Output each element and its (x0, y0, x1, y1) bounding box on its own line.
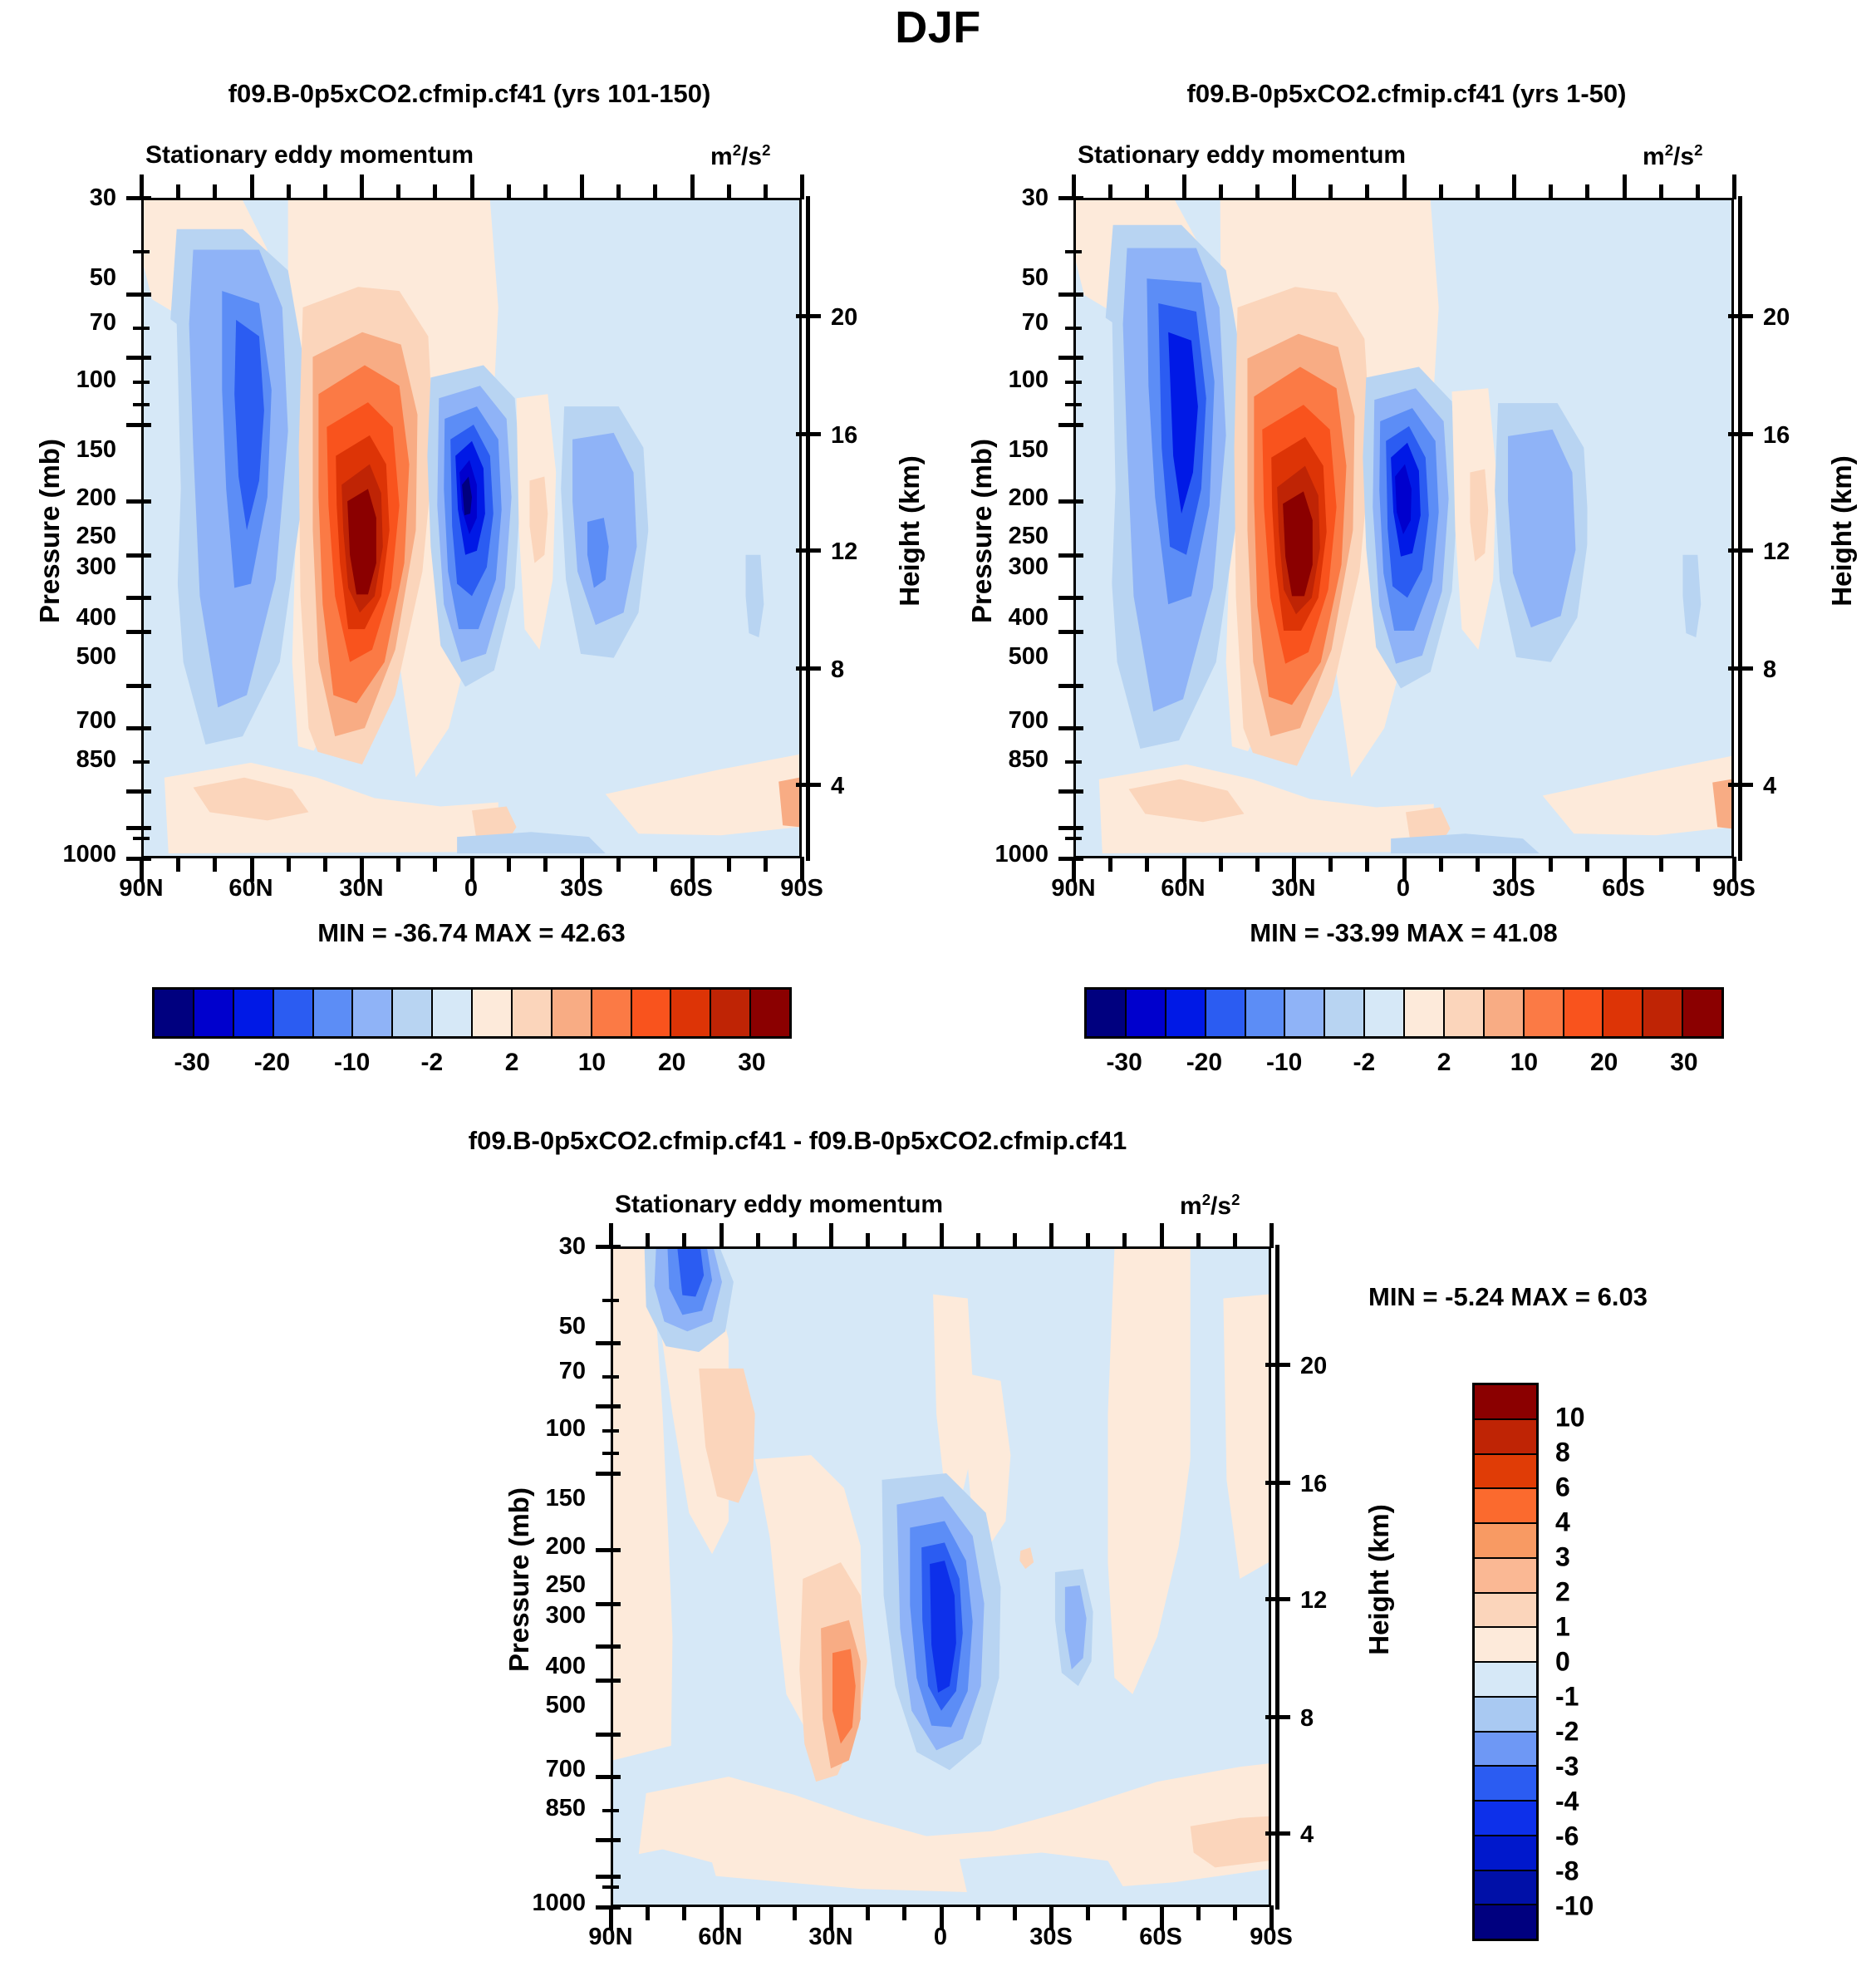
panel-top-left-ylabel: Pressure (mb) (34, 390, 66, 672)
x-minor-tickmark (213, 857, 217, 872)
panel-top-left-rtick-0: 20 (831, 304, 857, 332)
colorbar-tick-label: -1 (1555, 1682, 1579, 1713)
x-minor-tickmark-top (1122, 1233, 1127, 1248)
panel-bottom-rlabel: Height (km) (1363, 1438, 1395, 1721)
panel-top-right-ytick-11: 850 (957, 746, 1048, 774)
colorbar-tick-label: 30 (1670, 1049, 1697, 1077)
y-tickmark (596, 1905, 621, 1910)
x-minor-tickmark-top (1233, 1233, 1237, 1248)
colorbar-tick-label: 2 (1437, 1049, 1451, 1077)
x-tickmark-top (1623, 175, 1627, 199)
y-tickmark (596, 1644, 621, 1649)
colorbar-cell (1087, 990, 1127, 1036)
panel-top-right-right-axis (1738, 196, 1742, 861)
colorbar-cell (1445, 990, 1485, 1036)
colorbar-tick-label: -30 (1106, 1049, 1142, 1077)
y-tickmark (596, 1602, 621, 1606)
y-tickmark (126, 630, 151, 634)
colorbar-cell (1475, 1698, 1536, 1733)
x-minor-tickmark (1439, 857, 1443, 872)
x-minor-tickmark-top (616, 184, 621, 199)
panel-top-left-units: m2/s2 (710, 141, 770, 171)
x-tickmark (1623, 857, 1627, 882)
x-minor-tickmark (1219, 857, 1223, 872)
colorbar-cell (632, 990, 672, 1036)
x-tickmark-top (719, 1223, 724, 1248)
panel-top-right-rtick-1: 16 (1763, 422, 1790, 450)
panel-top-right-units: m2/s2 (1643, 141, 1702, 171)
x-minor-tickmark (764, 857, 768, 872)
colorbar-cell (393, 990, 433, 1036)
x-minor-tickmark-top (1086, 1233, 1090, 1248)
x-minor-tickmark (1122, 1905, 1127, 1920)
colorbar-tick-label: 8 (1555, 1438, 1570, 1468)
x-tickmark-top (470, 175, 474, 199)
x-minor-tickmark (1255, 857, 1260, 872)
x-tickmark-top (1402, 175, 1407, 199)
y-tickmark (1058, 499, 1083, 504)
colorbar-cell (1603, 990, 1643, 1036)
x-minor-tickmark-top (764, 184, 768, 199)
panel-bottom-rtick-1: 16 (1300, 1471, 1327, 1498)
y-tickmark (596, 1775, 621, 1779)
colorbar-cell (1285, 990, 1325, 1036)
panel-top-right-rtickmark-3 (1728, 666, 1753, 671)
x-minor-tickmark (176, 857, 180, 872)
x-minor-tickmark-top (176, 184, 180, 199)
y-minor-tickmark (1065, 760, 1082, 764)
panel-top-right-rtickmark-0 (1728, 314, 1753, 318)
x-tickmark (719, 1905, 724, 1930)
y-tickmark (126, 423, 151, 427)
x-tickmark (360, 857, 364, 882)
colorbar-cell (1475, 1559, 1536, 1594)
colorbar-tick-label: -6 (1555, 1821, 1579, 1852)
x-tickmark-top (690, 175, 695, 199)
panel-top-right-colorbar-labels: -30-20-10-22102030 (1084, 1049, 1724, 1082)
colorbar-cell (194, 990, 234, 1036)
panel-bottom-rtick-0: 20 (1300, 1353, 1327, 1380)
colorbar-cell (234, 990, 274, 1036)
colorbar-tick-label: 6 (1555, 1472, 1570, 1503)
y-minor-tickmark (133, 327, 150, 330)
x-tickmark-top (360, 175, 364, 199)
panel-top-right-ytick-10: 700 (957, 707, 1048, 735)
colorbar-tick-label: 10 (578, 1049, 606, 1077)
x-minor-tickmark-top (1145, 184, 1149, 199)
colorbar-cell (1475, 1733, 1536, 1767)
panel-top-right-title: f09.B-0p5xCO2.cfmip.cf41 (yrs 1-50) (937, 79, 1876, 109)
colorbar-tick-label: -2 (421, 1049, 444, 1077)
x-tickmark (800, 857, 804, 882)
colorbar-cell (1475, 1767, 1536, 1802)
panel-top-right-minmax: MIN = -33.99 MAX = 41.08 (1073, 918, 1734, 948)
panel-top-left-rtick-2: 12 (831, 538, 857, 566)
panel-top-right-ytick-2: 70 (957, 309, 1048, 337)
colorbar-tick-label: 0 (1555, 1647, 1570, 1678)
panel-top-left-colorbar[interactable] (152, 987, 792, 1039)
colorbar-tick-label: 1 (1555, 1612, 1570, 1643)
y-tickmark (1058, 684, 1083, 688)
panel-top-right-plot (1073, 198, 1734, 858)
colorbar-cell (1475, 1802, 1536, 1836)
y-tickmark (596, 1733, 621, 1737)
x-minor-tickmark (1659, 857, 1663, 872)
panel-top-left-colorbar-labels: -30-20-10-22102030 (152, 1049, 792, 1082)
y-tickmark (126, 499, 151, 504)
y-tickmark (126, 726, 151, 730)
y-tickmark (1058, 423, 1083, 427)
colorbar-cell (433, 990, 473, 1036)
y-minor-tickmark (1065, 327, 1082, 330)
y-minor-tickmark (133, 760, 150, 764)
colorbar-tick-label: 10 (1555, 1403, 1585, 1433)
y-tickmark (596, 1875, 621, 1879)
x-minor-tickmark-top (507, 184, 511, 199)
x-tickmark-top (1269, 1223, 1274, 1248)
panel-bottom-ytick-0: 30 (494, 1233, 586, 1261)
x-minor-tickmark-top (1476, 184, 1480, 199)
x-minor-tickmark-top (682, 1233, 686, 1248)
y-tickmark (1058, 789, 1083, 794)
panel-top-right-rlabel: Height (km) (1826, 390, 1858, 672)
x-tickmark (140, 857, 144, 882)
x-minor-tickmark-top (727, 184, 731, 199)
y-minor-tickmark (602, 1429, 619, 1433)
y-tickmark (126, 789, 151, 794)
colorbar-tick-label: 20 (658, 1049, 685, 1077)
colorbar-cell (1475, 1524, 1536, 1559)
panel-bottom-rtickmark-1 (1265, 1481, 1290, 1485)
x-tickmark-top (1160, 1223, 1164, 1248)
x-minor-tickmark (1585, 857, 1589, 872)
panel-bottom-rtick-4: 4 (1300, 1821, 1314, 1849)
panel-top-right-rtickmark-1 (1728, 432, 1753, 436)
x-minor-tickmark (653, 857, 657, 872)
y-tickmark (1058, 826, 1083, 830)
x-tickmark (690, 857, 695, 882)
x-minor-tickmark (1365, 857, 1369, 872)
colorbar-cell (1475, 1628, 1536, 1663)
colorbar-tick-label: -20 (1186, 1049, 1222, 1077)
x-minor-tickmark (1086, 1905, 1090, 1920)
x-minor-tickmark (287, 857, 291, 872)
panel-bottom-rtickmark-0 (1265, 1363, 1290, 1367)
panel-bottom-rtick-3: 8 (1300, 1705, 1314, 1733)
x-tickmark (1182, 857, 1186, 882)
colorbar-cell (473, 990, 513, 1036)
x-minor-tickmark-top (1108, 184, 1112, 199)
y-tickmark (596, 1472, 621, 1476)
panel-top-left-ytick-0: 30 (25, 184, 116, 212)
colorbar-tick-label: -2 (1353, 1049, 1376, 1077)
panel-top-right-ytick-0: 30 (957, 184, 1048, 212)
y-tickmark (126, 356, 151, 360)
panel-top-right-ytick-1: 50 (957, 264, 1048, 292)
panel-bottom-ytick-11: 850 (494, 1795, 586, 1822)
x-minor-tickmark (1328, 857, 1333, 872)
colorbar-cell (751, 990, 789, 1036)
y-tickmark (1058, 857, 1083, 861)
y-tickmark (596, 1245, 621, 1249)
colorbar-cell (1475, 1455, 1536, 1490)
x-tickmark (1402, 857, 1407, 882)
x-tickmark (1072, 857, 1076, 882)
colorbar-tick-label: -10 (1266, 1049, 1302, 1077)
x-minor-tickmark-top (1696, 184, 1700, 199)
panel-top-right-rtickmark-2 (1728, 548, 1753, 553)
x-minor-tickmark (1196, 1905, 1201, 1920)
x-minor-tickmark (902, 1905, 906, 1920)
colorbar-cell (1485, 990, 1525, 1036)
x-minor-tickmark (1108, 857, 1112, 872)
panel-top-right-rtick-4: 4 (1763, 773, 1776, 800)
panel-top-left-rlabel: Height (km) (894, 390, 926, 672)
colorbar-cell (314, 990, 354, 1036)
y-tickmark (596, 1548, 621, 1552)
x-tickmark (1269, 1905, 1274, 1930)
x-minor-tickmark-top (213, 184, 217, 199)
y-minor-tickmark (602, 1452, 619, 1455)
panel-top-right-ylabel: Pressure (mb) (966, 390, 998, 672)
colorbar-cell (1475, 1489, 1536, 1524)
panel-bottom-ytick-2: 70 (494, 1358, 586, 1385)
colorbar-tick-label: 20 (1590, 1049, 1618, 1077)
colorbar-cell (155, 990, 194, 1036)
x-tickmark-top (800, 175, 804, 199)
panel-bottom-minmax: MIN = -5.24 MAX = 6.03 (1284, 1282, 1732, 1312)
x-minor-tickmark (866, 1905, 870, 1920)
x-minor-tickmark (976, 1905, 980, 1920)
x-minor-tickmark-top (1365, 184, 1369, 199)
colorbar-tick-label: 2 (1555, 1577, 1570, 1608)
y-minor-tickmark (1065, 250, 1082, 253)
panel-top-right-field-name: Stationary eddy momentum (1078, 141, 1406, 170)
panel-bottom-plot (611, 1246, 1271, 1907)
x-tickmark-top (829, 1223, 833, 1248)
x-tickmark (940, 1905, 944, 1930)
colorbar-cell (1475, 1420, 1536, 1455)
x-minor-tickmark (433, 857, 437, 872)
panel-top-left-rtick-3: 8 (831, 656, 844, 684)
colorbar-tick-label: -30 (174, 1049, 209, 1077)
colorbar-cell (1246, 990, 1286, 1036)
y-minor-tickmark (602, 1885, 619, 1889)
x-minor-tickmark (1145, 857, 1149, 872)
x-tickmark-top (140, 175, 144, 199)
colorbar-cell (1475, 1594, 1536, 1629)
x-tickmark-top (1072, 175, 1076, 199)
x-tickmark (829, 1905, 833, 1930)
colorbar-cell (1325, 990, 1365, 1036)
x-minor-tickmark-top (433, 184, 437, 199)
colorbar-tick-label: -10 (1555, 1891, 1594, 1922)
y-minor-tickmark (1065, 837, 1082, 840)
panel-top-left-rtickmark-4 (796, 783, 821, 787)
panel-bottom-ytick-10: 700 (494, 1756, 586, 1783)
x-minor-tickmark-top (1659, 184, 1663, 199)
panel-top-left-ytick-10: 700 (25, 707, 116, 735)
y-tickmark (1058, 630, 1083, 634)
x-minor-tickmark-top (1328, 184, 1333, 199)
colorbar-cell (274, 990, 314, 1036)
x-tickmark-top (609, 1223, 613, 1248)
x-minor-tickmark-top (1549, 184, 1553, 199)
colorbar-cell (1475, 1663, 1536, 1698)
panel-bottom-ytick-12: 1000 (486, 1890, 586, 1917)
y-tickmark (1058, 196, 1083, 200)
colorbar-tick-label: -2 (1555, 1717, 1579, 1748)
x-tickmark (609, 1905, 613, 1930)
x-minor-tickmark-top (1439, 184, 1443, 199)
colorbar-cell (353, 990, 393, 1036)
x-minor-tickmark (1549, 857, 1553, 872)
figure-title: DJF (0, 2, 1876, 53)
panel-bottom-rtick-2: 12 (1300, 1587, 1327, 1615)
panel-bottom-ylabel: Pressure (mb) (503, 1438, 535, 1721)
y-tickmark (126, 553, 151, 558)
y-minor-tickmark (1065, 381, 1082, 384)
x-minor-tickmark (682, 1905, 686, 1920)
panel-top-left-field-name: Stationary eddy momentum (145, 141, 474, 170)
y-tickmark (126, 292, 151, 297)
x-tickmark-top (1182, 175, 1186, 199)
x-minor-tickmark-top (646, 1233, 650, 1248)
colorbar-tick-label: -10 (334, 1049, 370, 1077)
x-minor-tickmark-top (1219, 184, 1223, 199)
x-minor-tickmark-top (1196, 1233, 1201, 1248)
panel-top-left-plot (141, 198, 802, 858)
x-minor-tickmark (727, 857, 731, 872)
colorbar-cell (711, 990, 751, 1036)
panel-top-left-ytick-1: 50 (25, 264, 116, 292)
colorbar-cell (1475, 1905, 1536, 1939)
y-tickmark (1058, 292, 1083, 297)
colorbar-cell (1127, 990, 1166, 1036)
x-minor-tickmark-top (793, 1233, 797, 1248)
colorbar-cell (1683, 990, 1721, 1036)
x-tickmark (1292, 857, 1296, 882)
panel-top-left-ytick-11: 850 (25, 746, 116, 774)
panel-bottom-rtickmark-4 (1265, 1831, 1290, 1836)
x-minor-tickmark-top (866, 1233, 870, 1248)
panel-top-right-colorbar[interactable] (1084, 987, 1724, 1039)
x-minor-tickmark (1233, 1905, 1237, 1920)
x-minor-tickmark (543, 857, 548, 872)
x-minor-tickmark (323, 857, 327, 872)
panel-bottom-field-name: Stationary eddy momentum (615, 1191, 943, 1219)
colorbar-tick-label: -8 (1555, 1856, 1579, 1887)
panel-top-left-rtickmark-1 (796, 432, 821, 436)
x-minor-tickmark (616, 857, 621, 872)
x-tickmark-top (1512, 175, 1516, 199)
x-minor-tickmark (396, 857, 400, 872)
y-tickmark (126, 826, 151, 830)
colorbar-cell (592, 990, 632, 1036)
panel-bottom-rtickmark-2 (1265, 1597, 1290, 1601)
x-tickmark-top (1732, 175, 1736, 199)
x-tickmark (1049, 1905, 1053, 1930)
panel-top-right-ytick-12: 1000 (949, 841, 1048, 868)
x-tickmark-top (1292, 175, 1296, 199)
y-tickmark (596, 1341, 621, 1345)
colorbar-cell (1405, 990, 1445, 1036)
colorbar-tick-label: 2 (505, 1049, 519, 1077)
x-tickmark-top (580, 175, 584, 199)
panel-bottom-colorbar[interactable] (1472, 1383, 1539, 1941)
x-tickmark (1732, 857, 1736, 882)
panel-top-left-rtickmark-0 (796, 314, 821, 318)
colorbar-tick-label: -3 (1555, 1752, 1579, 1782)
x-tickmark (1512, 857, 1516, 882)
colorbar-cell (1475, 1385, 1536, 1420)
colorbar-tick-label: 10 (1510, 1049, 1538, 1077)
panel-top-left-right-axis (806, 196, 810, 861)
x-tickmark (470, 857, 474, 882)
colorbar-cell (1206, 990, 1246, 1036)
x-minor-tickmark-top (543, 184, 548, 199)
panel-top-right-rtick-3: 8 (1763, 656, 1776, 684)
y-tickmark (1058, 726, 1083, 730)
colorbar-cell (552, 990, 592, 1036)
y-tickmark (1058, 596, 1083, 600)
x-minor-tickmark (1696, 857, 1700, 872)
x-minor-tickmark-top (396, 184, 400, 199)
y-tickmark (126, 857, 151, 861)
colorbar-tick-label: 30 (738, 1049, 765, 1077)
panel-bottom-rtickmark-3 (1265, 1715, 1290, 1719)
x-minor-tickmark-top (756, 1233, 760, 1248)
y-minor-tickmark (602, 1375, 619, 1379)
panel-top-left-ytick-2: 70 (25, 309, 116, 337)
figure-root: DJF f09.B-0p5xCO2.cfmip.cf41 (yrs 101-15… (0, 0, 1876, 1981)
colorbar-tick-label: -20 (254, 1049, 290, 1077)
x-minor-tickmark-top (287, 184, 291, 199)
x-tickmark (250, 857, 254, 882)
y-tickmark (126, 196, 151, 200)
colorbar-cell (1564, 990, 1604, 1036)
y-tickmark (1058, 553, 1083, 558)
panel-top-left-rtickmark-3 (796, 666, 821, 671)
y-tickmark (596, 1838, 621, 1842)
panel-bottom-colorbar-labels: 108643210-1-2-3-4-6-8-10 (1555, 1383, 1655, 1941)
y-tickmark (1058, 356, 1083, 360)
colorbar-tick-label: 3 (1555, 1542, 1570, 1573)
colorbar-cell (1643, 990, 1683, 1036)
x-minor-tickmark (793, 1905, 797, 1920)
panel-top-right-rtick-2: 12 (1763, 538, 1790, 566)
colorbar-cell (1365, 990, 1405, 1036)
x-minor-tickmark (507, 857, 511, 872)
colorbar-cell (1475, 1871, 1536, 1906)
x-tickmark-top (250, 175, 254, 199)
y-tickmark (596, 1404, 621, 1408)
x-minor-tickmark-top (323, 184, 327, 199)
x-minor-tickmark-top (653, 184, 657, 199)
x-tickmark-top (1049, 1223, 1053, 1248)
colorbar-cell (671, 990, 711, 1036)
panel-top-left-minmax: MIN = -36.74 MAX = 42.63 (141, 918, 802, 948)
y-minor-tickmark (133, 381, 150, 384)
colorbar-cell (1475, 1836, 1536, 1871)
y-minor-tickmark (133, 403, 150, 406)
panel-bottom-ytick-1: 50 (494, 1313, 586, 1340)
panel-top-right-rtick-0: 20 (1763, 304, 1790, 332)
panel-bottom-title: f09.B-0p5xCO2.cfmip.cf41 - f09.B-0p5xCO2… (274, 1126, 1321, 1156)
colorbar-cell (1166, 990, 1206, 1036)
x-minor-tickmark-top (1585, 184, 1589, 199)
colorbar-tick-label: 4 (1555, 1507, 1570, 1538)
